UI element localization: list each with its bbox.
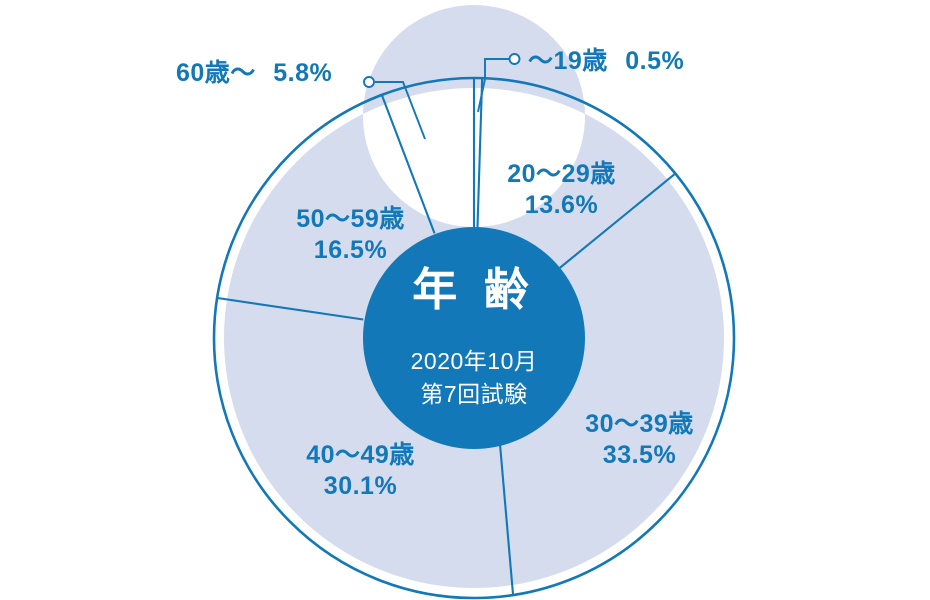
slice-label-50-59-text: 50～59歳 — [296, 205, 405, 233]
slice-label-30-39: 30～39歳 33.5% — [567, 409, 712, 470]
slice-label-20-29-text: 20～29歳 — [507, 160, 616, 188]
slice-value-60-text: 5.8% — [273, 59, 332, 87]
slice-label-19-text: ～19歳 — [528, 47, 608, 75]
slice-label-19: ～19歳 0.5% — [528, 46, 684, 77]
slice-label-40-49-text: 40～49歳 — [306, 441, 415, 469]
hub-title: 年 齢 — [363, 267, 585, 312]
slice-value-40-49-text: 30.1% — [288, 471, 433, 502]
leader-dot-19 — [510, 54, 520, 64]
slice-value-50-59-text: 16.5% — [278, 235, 423, 266]
slice-label-30-39-text: 30～39歳 — [585, 410, 694, 438]
slice-label-50-59: 50～59歳 16.5% — [278, 204, 423, 265]
slice-label-60: 60歳～ 5.8% — [176, 58, 332, 89]
hub-subtitle-line1: 2020年10月 — [363, 345, 585, 378]
hub-subtitle-line2: 第7回試験 — [363, 378, 585, 411]
slice-value-20-29-text: 13.6% — [489, 190, 634, 221]
hub-subtitle: 2020年10月 第7回試験 — [363, 345, 585, 412]
slice-label-40-49: 40～49歳 30.1% — [288, 440, 433, 501]
slice-value-30-39-text: 33.5% — [567, 440, 712, 471]
slice-value-19-text: 0.5% — [625, 47, 684, 75]
age-distribution-donut-chart: ～19歳 0.5% 20～29歳 13.6% 30～39歳 33.5% 40～4… — [0, 0, 930, 600]
slice-label-60-text: 60歳～ — [176, 59, 256, 87]
leader-dot-60 — [364, 77, 374, 87]
slice-label-20-29: 20～29歳 13.6% — [489, 159, 634, 220]
